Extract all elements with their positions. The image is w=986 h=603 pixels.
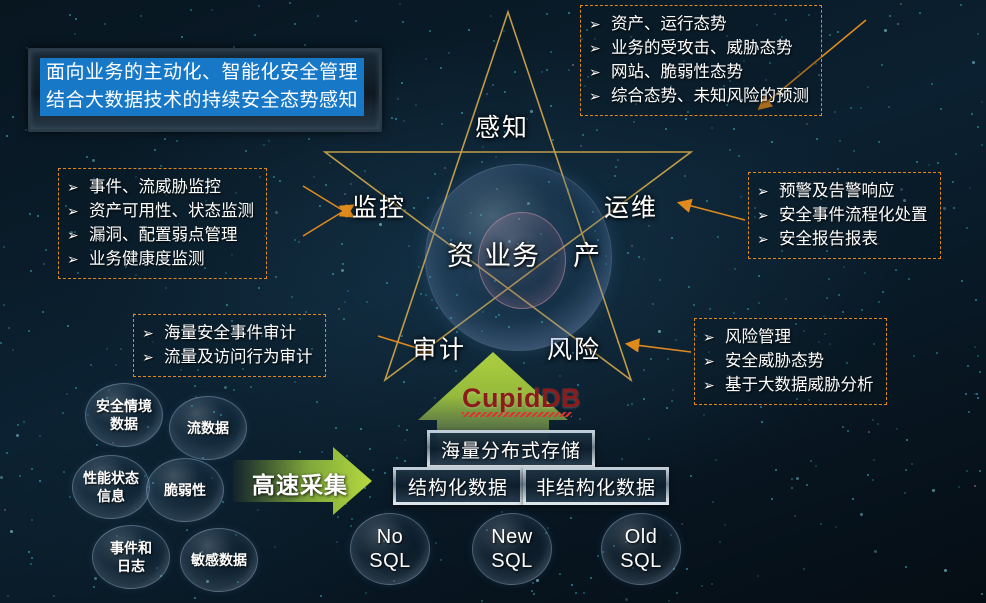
list-item: ➢资产可用性、状态监测 (67, 199, 254, 223)
bubble-line-2: 数据 (110, 415, 138, 433)
collection-arrow-label: 高速采集 (252, 466, 348, 500)
list-item: ➢安全事件流程化处置 (757, 203, 928, 227)
callout-risk[interactable]: ➢风险管理 ➢安全威胁态势 ➢基于大数据威胁分析 (694, 318, 887, 405)
list-item: ➢安全威胁态势 (703, 349, 874, 373)
bullet-arrow-icon: ➢ (757, 203, 779, 227)
callout-monitor[interactable]: ➢事件、流威胁监控 ➢资产可用性、状态监测 ➢漏洞、配置弱点管理 ➢业务健康度监… (58, 168, 267, 279)
sql-store-bubble[interactable]: No SQL (350, 513, 430, 585)
data-source-bubble[interactable]: 事件和 日志 (92, 525, 170, 589)
bubble-line-1: 脆弱性 (164, 481, 206, 499)
star-node-monitor[interactable]: 监控 (352, 188, 406, 224)
connector-ops (680, 203, 745, 220)
box-structured-data[interactable]: 结构化数据 (393, 467, 523, 505)
callout-perception[interactable]: ➢资产、运行态势 ➢业务的受攻击、威胁态势 ➢网站、脆弱性态势 ➢综合态势、未知… (580, 5, 822, 116)
list-item: ➢业务的受攻击、威胁态势 (589, 36, 809, 60)
bullet-arrow-icon: ➢ (67, 247, 89, 271)
bubble-line-1: New (491, 525, 533, 549)
bubble-line-2: SQL (491, 549, 533, 573)
list-item: ➢综合态势、未知风险的预测 (589, 84, 809, 108)
connector-monitor-2 (303, 206, 352, 236)
bullet-arrow-icon: ➢ (703, 325, 725, 349)
data-source-bubble[interactable]: 脆弱性 (146, 458, 224, 522)
list-item: ➢漏洞、配置弱点管理 (67, 223, 254, 247)
callout-audit-list: ➢海量安全事件审计 ➢流量及访问行为审计 (142, 321, 313, 369)
bullet-arrow-icon: ➢ (589, 60, 611, 84)
connector-risk (628, 344, 691, 352)
bullet-arrow-icon: ➢ (757, 179, 779, 203)
list-item: ➢业务健康度监测 (67, 247, 254, 271)
box-distributed-storage[interactable]: 海量分布式存储 (427, 430, 595, 468)
page-title: 面向业务的主动化、智能化安全管理 结合大数据技术的持续安全态势感知 (40, 58, 364, 116)
list-item: ➢海量安全事件审计 (142, 321, 313, 345)
bullet-arrow-icon: ➢ (589, 84, 611, 108)
spellcheck-underline (462, 412, 572, 417)
callout-audit[interactable]: ➢海量安全事件审计 ➢流量及访问行为审计 (133, 314, 326, 377)
bubble-line-1: 流数据 (187, 419, 229, 437)
bubble-line-1: 事件和 (110, 539, 152, 557)
bubble-line-1: 性能状态 (83, 469, 139, 487)
slide-canvas: 面向业务的主动化、智能化安全管理 结合大数据技术的持续安全态势感知 ➢资产、运行… (0, 0, 986, 603)
bubble-line-2: SQL (369, 549, 411, 573)
bubble-line-2: 信息 (97, 487, 125, 505)
bubble-line-1: 安全情境 (96, 397, 152, 415)
list-item: ➢安全报告报表 (757, 227, 928, 251)
data-source-bubble[interactable]: 性能状态 信息 (72, 455, 150, 519)
cupiddb-brand: CupidDB (462, 383, 581, 414)
star-node-audit[interactable]: 审计 (412, 330, 466, 366)
box-unstructured-data[interactable]: 非结构化数据 (523, 467, 669, 505)
data-source-bubble[interactable]: 敏感数据 (180, 528, 258, 592)
sql-store-bubble[interactable]: Old SQL (601, 513, 681, 585)
bullet-arrow-icon: ➢ (703, 349, 725, 373)
star-node-operations[interactable]: 运维 (604, 188, 658, 224)
list-item: ➢风险管理 (703, 325, 874, 349)
core-word-asset-right: 产 (573, 234, 601, 273)
list-item: ➢流量及访问行为审计 (142, 345, 313, 369)
data-source-bubble[interactable]: 流数据 (169, 396, 247, 460)
title-line-2: 结合大数据技术的持续安全态势感知 (46, 87, 358, 115)
core-word-asset-left: 资 (447, 234, 475, 273)
callout-monitor-list: ➢事件、流威胁监控 ➢资产可用性、状态监测 ➢漏洞、配置弱点管理 ➢业务健康度监… (67, 175, 254, 271)
core-word-business: 业务 (484, 234, 540, 273)
bubble-line-2: SQL (620, 549, 662, 573)
list-item: ➢网站、脆弱性态势 (589, 60, 809, 84)
bullet-arrow-icon: ➢ (142, 345, 164, 369)
bubble-line-1: Old (625, 525, 658, 549)
bullet-arrow-icon: ➢ (589, 36, 611, 60)
bullet-arrow-icon: ➢ (67, 175, 89, 199)
callout-operations-list: ➢预警及告警响应 ➢安全事件流程化处置 ➢安全报告报表 (757, 179, 928, 251)
list-item: ➢事件、流威胁监控 (67, 175, 254, 199)
callout-perception-list: ➢资产、运行态势 ➢业务的受攻击、威胁态势 ➢网站、脆弱性态势 ➢综合态势、未知… (589, 12, 809, 108)
connector-monitor (303, 186, 352, 216)
callout-risk-list: ➢风险管理 ➢安全威胁态势 ➢基于大数据威胁分析 (703, 325, 874, 397)
bullet-arrow-icon: ➢ (757, 227, 779, 251)
data-source-bubble[interactable]: 安全情境 数据 (85, 383, 163, 447)
bubble-line-2: 日志 (117, 557, 145, 575)
bullet-arrow-icon: ➢ (67, 199, 89, 223)
sql-store-bubble[interactable]: New SQL (472, 513, 552, 585)
bubble-line-1: 敏感数据 (191, 551, 247, 569)
bullet-arrow-icon: ➢ (703, 373, 725, 397)
bubble-line-1: No (377, 525, 404, 549)
list-item: ➢基于大数据威胁分析 (703, 373, 874, 397)
title-line-1: 面向业务的主动化、智能化安全管理 (46, 59, 358, 87)
star-node-perception[interactable]: 感知 (475, 108, 529, 144)
bullet-arrow-icon: ➢ (67, 223, 89, 247)
callout-operations[interactable]: ➢预警及告警响应 ➢安全事件流程化处置 ➢安全报告报表 (748, 172, 941, 259)
list-item: ➢预警及告警响应 (757, 179, 928, 203)
bullet-arrow-icon: ➢ (589, 12, 611, 36)
bullet-arrow-icon: ➢ (142, 321, 164, 345)
list-item: ➢资产、运行态势 (589, 12, 809, 36)
